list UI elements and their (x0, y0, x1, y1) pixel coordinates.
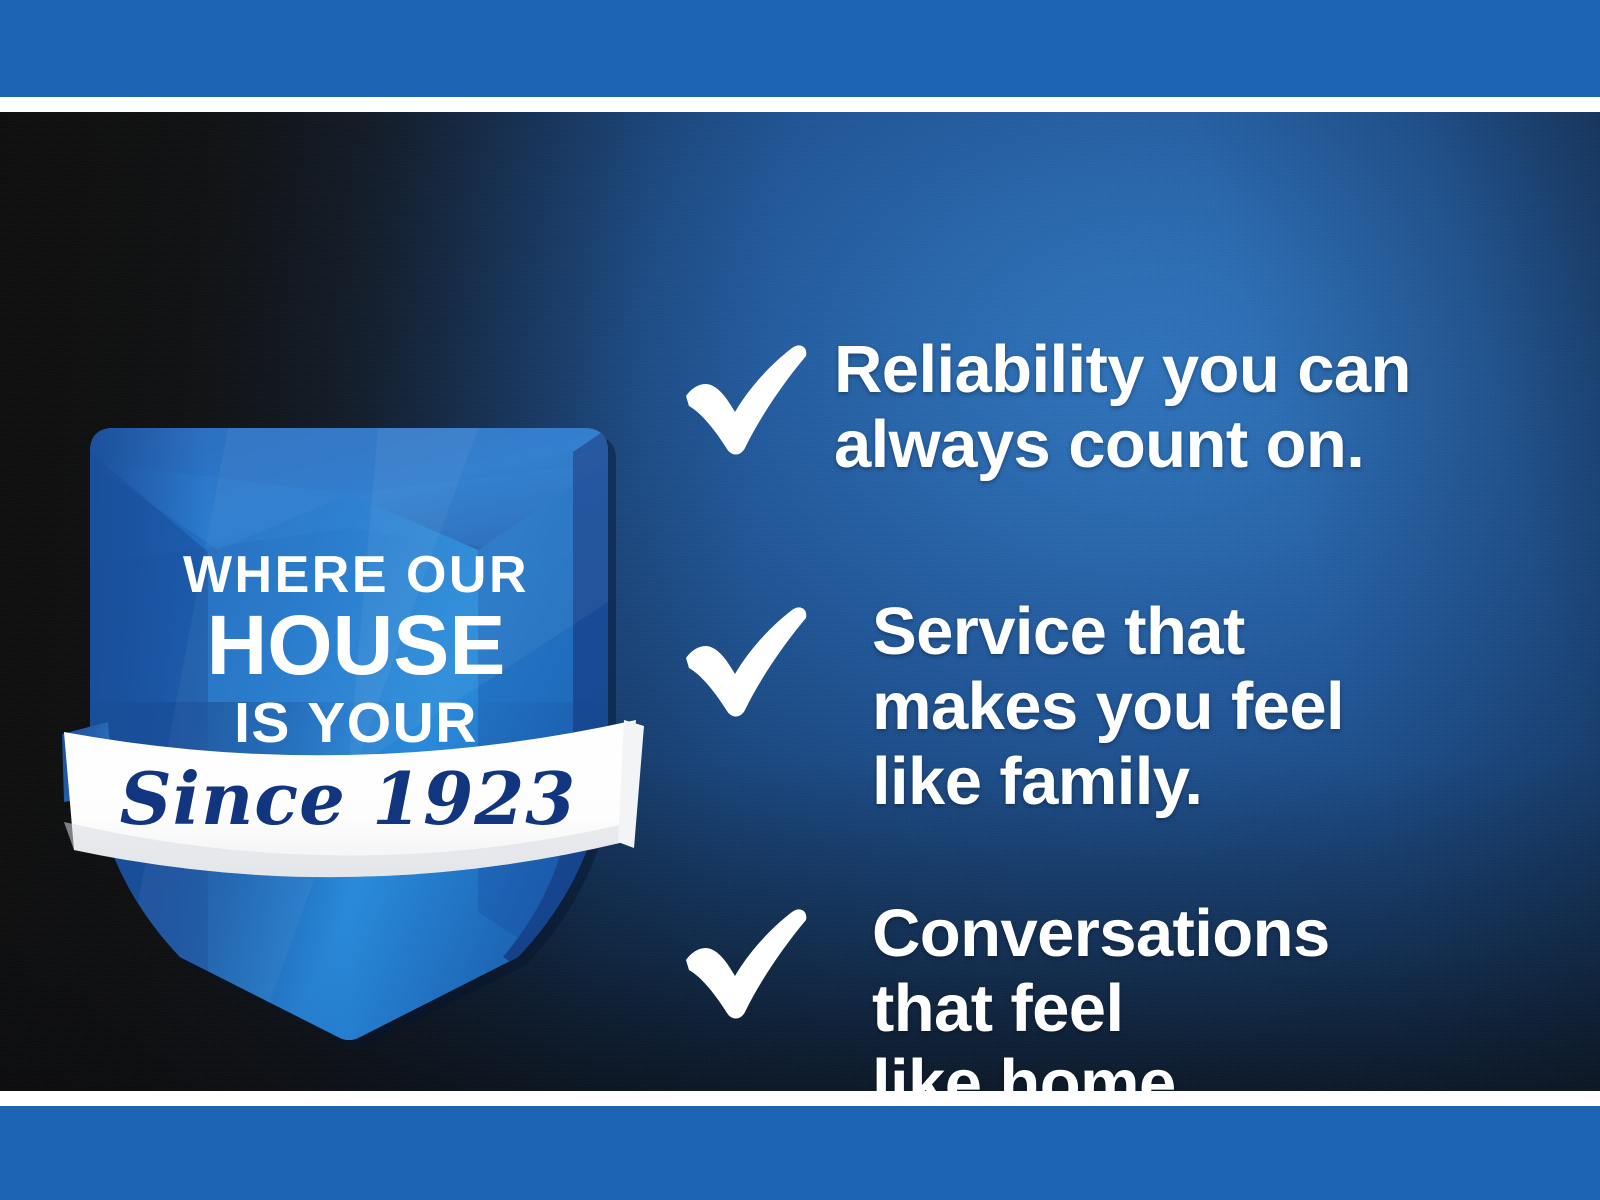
list-item: Conversations that feel like home. (680, 896, 1330, 1091)
promo-graphic: WHERE OUR HOUSE IS YOUR HOUSE Since 1923 (0, 0, 1600, 1200)
main-panel: WHERE OUR HOUSE IS YOUR HOUSE Since 1923 (0, 112, 1600, 1091)
check-icon (680, 600, 812, 720)
check-icon (680, 338, 812, 458)
shield-line-1: HOUSE (207, 598, 506, 692)
list-item: Reliability you can always count on. (680, 332, 1411, 482)
list-item: Service that makes you feel like family. (680, 594, 1344, 819)
check-icon (680, 902, 812, 1022)
benefits-list: Reliability you can always count on. Ser… (672, 224, 1572, 1091)
shield-logo: WHERE OUR HOUSE IS YOUR HOUSE Since 1923 (48, 302, 648, 1062)
bottom-brand-bar (0, 1106, 1600, 1200)
list-item-text: Reliability you can always count on. (834, 332, 1411, 482)
shield-line-0: WHERE OUR (183, 546, 529, 604)
banner-script-text: Since 1923 (120, 756, 577, 841)
list-item-text: Service that makes you feel like family. (872, 594, 1344, 819)
top-brand-bar (0, 0, 1600, 97)
list-item-text: Conversations that feel like home. (872, 896, 1330, 1091)
